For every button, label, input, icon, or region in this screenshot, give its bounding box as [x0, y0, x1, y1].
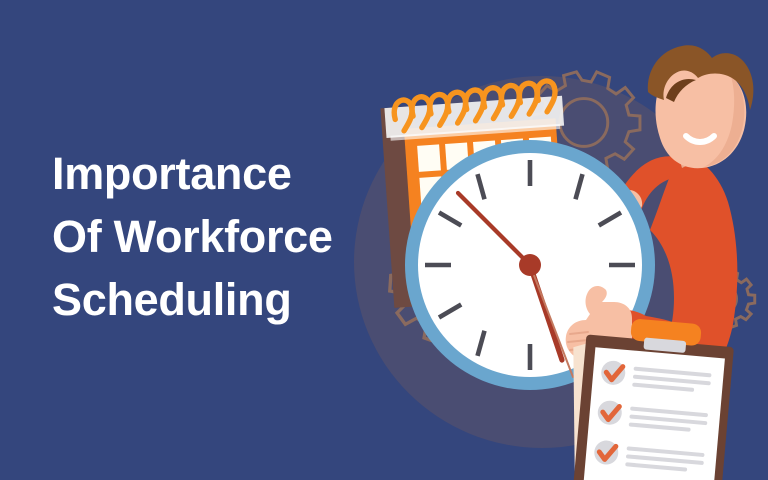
workforce-scheduling-illustration: [330, 40, 768, 480]
page-title: Importance Of Workforce Scheduling: [52, 142, 362, 331]
poster-canvas: Importance Of Workforce Scheduling: [0, 0, 768, 480]
